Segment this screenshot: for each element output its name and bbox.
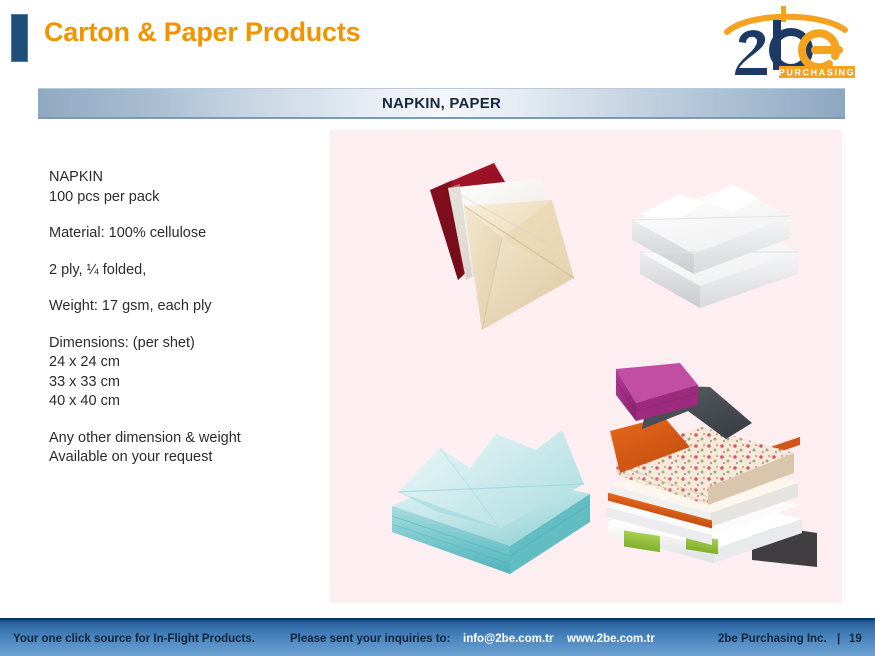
product-image-panel — [330, 130, 842, 603]
spec-line: Material: 100% cellulose — [49, 224, 324, 244]
slide-header: Carton & Paper Products PURCHASING — [0, 0, 875, 84]
spec-paragraph: Any other dimension & weight Available o… — [49, 429, 324, 468]
section-title-bar: NAPKIN, PAPER — [38, 88, 845, 119]
spec-line: Dimensions: (per shet) — [49, 334, 324, 354]
spec-line: 33 x 33 cm — [49, 373, 324, 393]
spec-line: 2 ply, ¼ folded, — [49, 261, 324, 281]
footer-email-link[interactable]: info@2be.com.tr — [463, 633, 553, 645]
footer-inquiry-label: Please sent your inquiries to: — [290, 633, 450, 645]
logo-tagline: PURCHASING — [779, 68, 856, 78]
spec-line: Any other dimension & weight — [49, 429, 324, 449]
spec-paragraph: Material: 100% cellulose — [49, 224, 324, 244]
napkin-photo-colored-stack — [602, 355, 827, 570]
page-title: Carton & Paper Products — [44, 17, 360, 48]
footer-page-number: 19 — [849, 633, 862, 645]
napkin-photo-white-stack — [610, 168, 806, 328]
spec-line: 100 pcs per pack — [49, 188, 324, 208]
2be-purchasing-logo-icon: PURCHASING — [717, 4, 857, 80]
footer-website-link[interactable]: www.2be.com.tr — [567, 633, 655, 645]
footer-company-name: 2be Purchasing Inc. — [718, 633, 827, 645]
spec-line: NAPKIN — [49, 168, 324, 188]
section-title: NAPKIN, PAPER — [382, 95, 501, 112]
spec-line: 40 x 40 cm — [49, 392, 324, 412]
spec-paragraph: 2 ply, ¼ folded, — [49, 261, 324, 281]
spec-line: Weight: 17 gsm, each ply — [49, 297, 324, 317]
spec-paragraph: NAPKIN 100 pcs per pack — [49, 168, 324, 207]
footer-separator: | — [837, 633, 840, 645]
title-accent-block — [11, 14, 28, 62]
footer-tagline: Your one click source for In-Flight Prod… — [13, 633, 255, 645]
napkin-photo-fanned-red-white-cream — [402, 158, 614, 343]
spec-paragraph: Dimensions: (per shet) 24 x 24 cm 33 x 3… — [49, 334, 324, 412]
napkin-photo-teal-stack — [378, 420, 603, 590]
product-specification-text: NAPKIN 100 pcs per pack Material: 100% c… — [49, 168, 324, 468]
brand-logo: PURCHASING — [717, 4, 857, 80]
slide-footer: Your one click source for In-Flight Prod… — [0, 618, 875, 656]
spec-line: Available on your request — [49, 448, 324, 468]
spec-paragraph: Weight: 17 gsm, each ply — [49, 297, 324, 317]
spec-line: 24 x 24 cm — [49, 353, 324, 373]
